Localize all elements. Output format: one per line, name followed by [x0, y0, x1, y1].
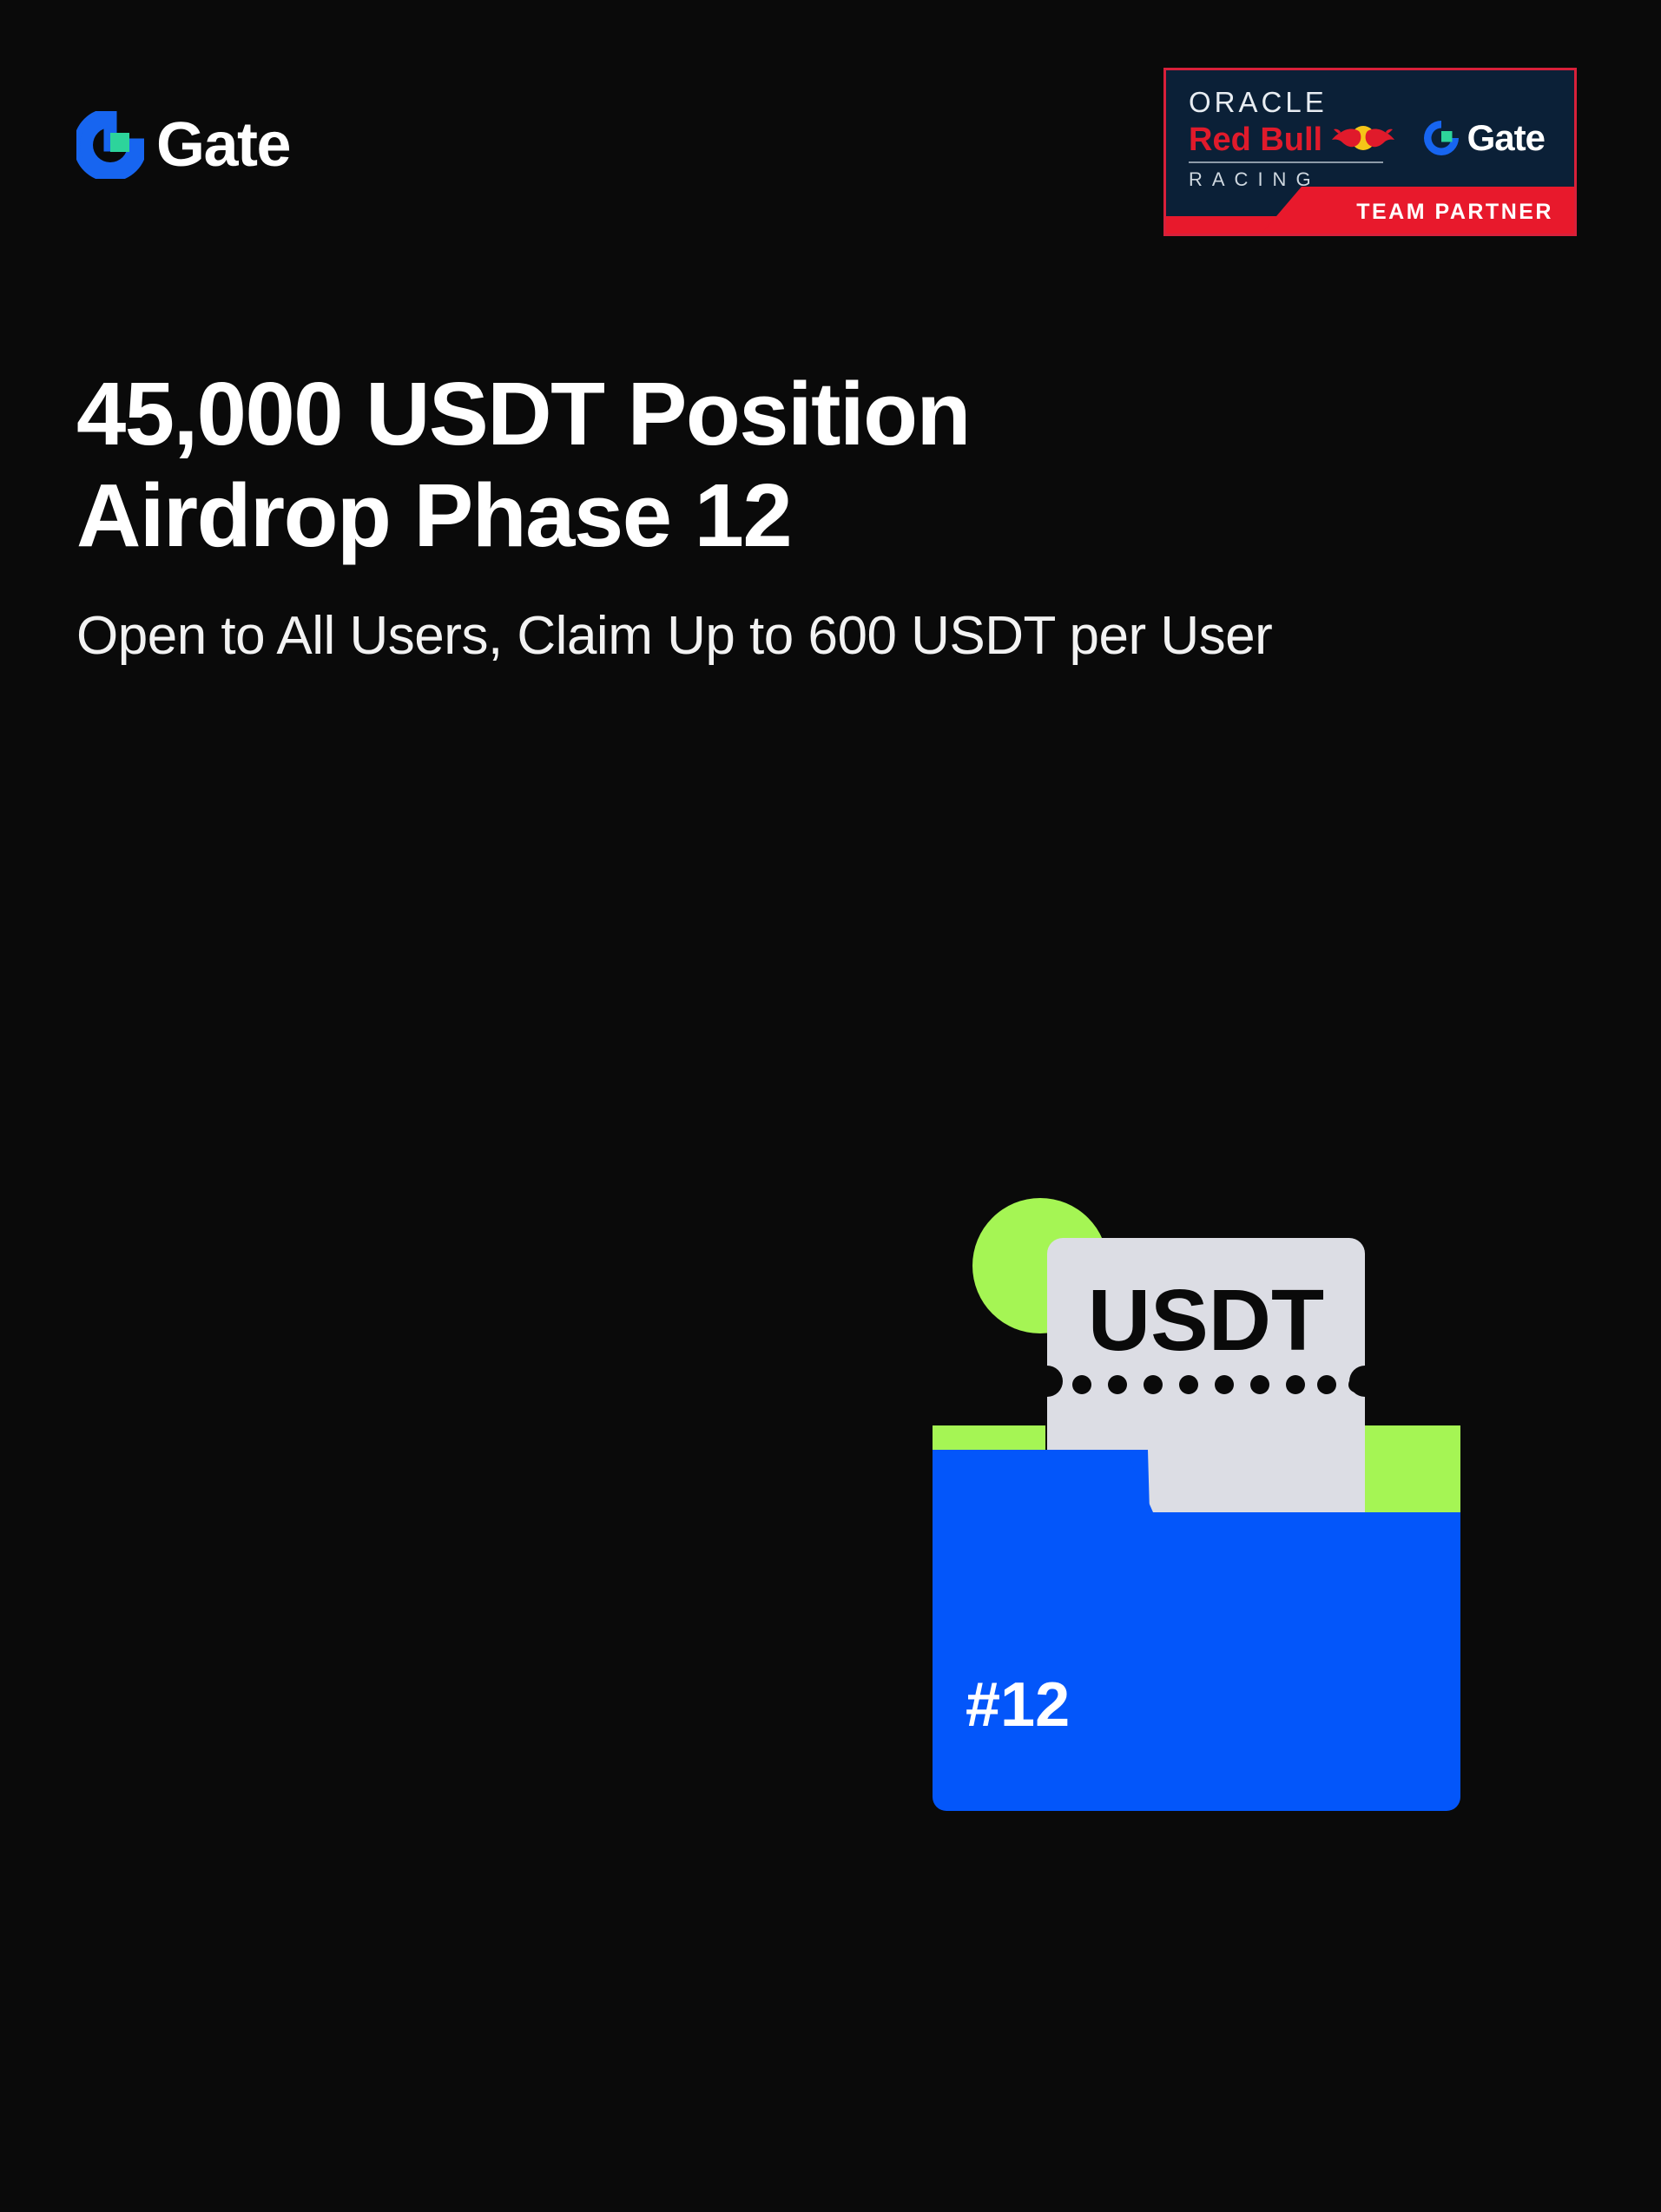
gate-logo-icon	[1422, 119, 1460, 157]
usdt-voucher-wallet-illustration: USDT #12	[920, 1189, 1476, 1849]
team-partner-band: TEAM PARTNER	[1166, 187, 1574, 234]
green-block-right	[1365, 1425, 1460, 1514]
phase-number-label: #12	[966, 1670, 1070, 1740]
gate-logo-icon	[76, 111, 144, 179]
page-title: 45,000 USDT Position Airdrop Phase 12	[76, 363, 1257, 567]
header: Gate ORACLE Red Bull	[0, 0, 1661, 260]
redbull-team-partner-badge: ORACLE Red Bull	[1163, 68, 1577, 236]
badge-divider	[1189, 161, 1383, 163]
redbull-wordmark: Red Bull	[1189, 123, 1322, 156]
voucher-usdt-label: USDT	[1088, 1272, 1324, 1369]
redbull-lockup: ORACLE Red Bull	[1189, 88, 1390, 189]
hero-section: 45,000 USDT Position Airdrop Phase 12 Op…	[76, 363, 1309, 669]
team-partner-label: TEAM PARTNER	[1356, 201, 1553, 223]
gate-brand-logo: Gate	[76, 111, 290, 179]
badge-gate-wordmark: Gate	[1467, 120, 1545, 156]
red-bull-bulls-icon	[1329, 124, 1397, 155]
page-subtitle: Open to All Users, Claim Up to 600 USDT …	[76, 603, 1309, 669]
promo-banner: Gate ORACLE Red Bull	[0, 0, 1661, 2212]
gate-wordmark: Gate	[156, 114, 290, 176]
badge-gate-logo: Gate	[1422, 119, 1545, 157]
oracle-wordmark: ORACLE	[1189, 88, 1390, 116]
